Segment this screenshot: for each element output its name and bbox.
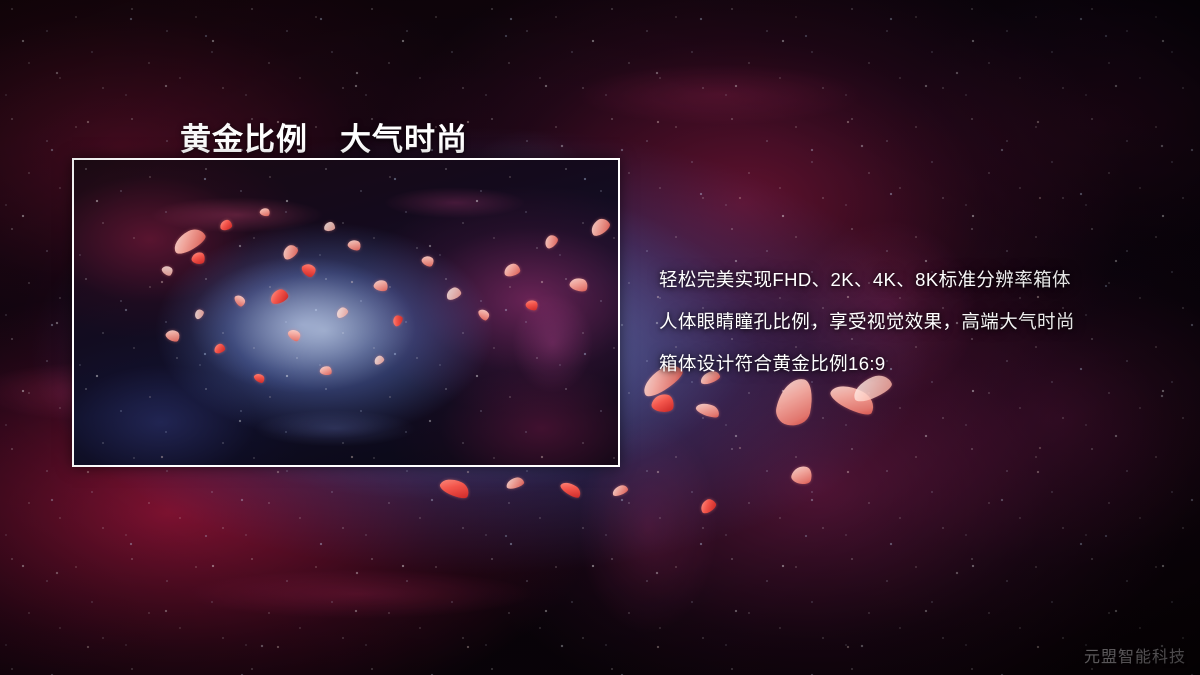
body-line-3: 箱体设计符合黄金比例16:9 bbox=[659, 343, 1159, 385]
body-line-1: 轻松完美实现FHD、2K、4K、8K标准分辨率箱体 bbox=[659, 259, 1159, 301]
body-line-2: 人体眼睛瞳孔比例，享受视觉效果，高端大气时尚 bbox=[659, 301, 1159, 343]
company-watermark: 元盟智能科技 bbox=[1084, 643, 1186, 667]
slide-body-text: 轻松完美实现FHD、2K、4K、8K标准分辨率箱体 人体眼睛瞳孔比例，享受视觉效… bbox=[659, 259, 1159, 385]
product-photo-frame bbox=[72, 158, 620, 467]
presentation-slide: 黄金比例 大气时尚 轻松完美实现FHD、2K、4K、8K标准分辨率箱体 人体眼睛… bbox=[0, 0, 1200, 675]
slide-title: 黄金比例 大气时尚 bbox=[180, 123, 468, 157]
